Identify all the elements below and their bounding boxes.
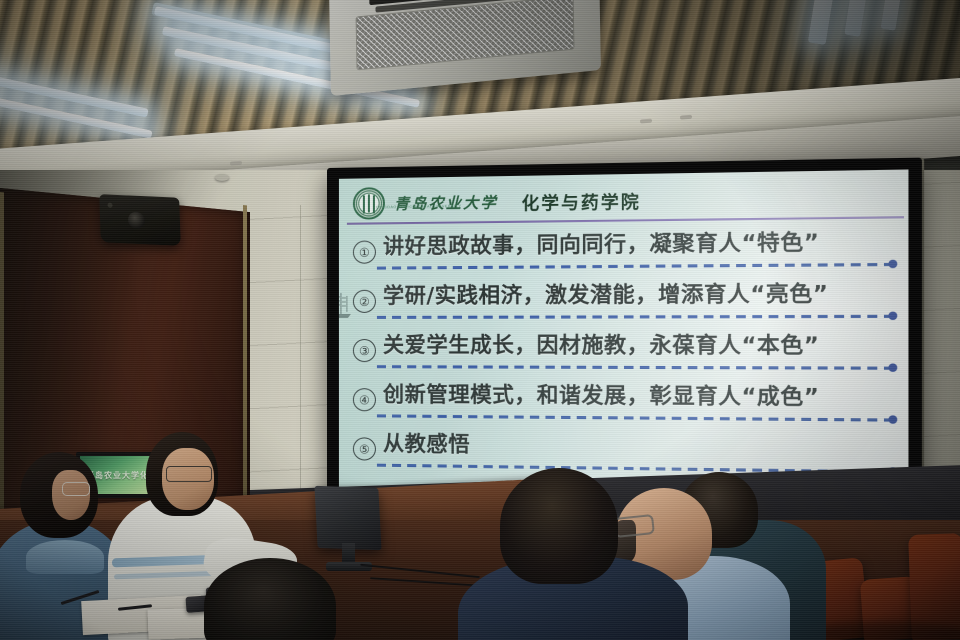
slide-bullet-list: ① 讲好思政故事，同向同行，凝聚育人“特色” ② 学研/实践相济，激发潜能，增添… — [353, 229, 897, 498]
person-presenter-woman-collar — [26, 540, 104, 574]
slide-header: 青岛农业大学 化学与药学院 — [353, 177, 902, 222]
desktop-monitor-icon[interactable] — [314, 486, 381, 550]
slide-item: ② 学研/实践相济，激发潜能，增添育人“亮色” — [353, 281, 897, 333]
slide-surface: 青岛农业大学 化学与药学院 QINGDAO AGRICULTURAL UNIVE… — [339, 169, 909, 504]
glasses-icon — [613, 514, 655, 538]
slide-item-number: ② — [353, 290, 376, 313]
slide-item-number: ③ — [353, 339, 376, 362]
slide-item-number: ① — [353, 241, 376, 264]
slide-item-end-dot — [888, 363, 897, 371]
glasses-icon — [166, 466, 212, 482]
slide-item-number: ⑤ — [353, 437, 376, 460]
slide-item-end-dot — [888, 415, 897, 424]
university-seal-icon — [353, 187, 385, 220]
person-attendee-navy-head — [500, 468, 618, 584]
glasses-icon — [62, 482, 90, 496]
beam-fixture — [230, 161, 242, 166]
slide-item-underline — [377, 414, 891, 421]
department-name-cn: 化学与药学院 — [522, 187, 641, 214]
slide-item-end-dot — [888, 312, 897, 320]
slide-item-underline — [377, 315, 891, 319]
slide-item-underline — [377, 263, 891, 270]
slide-item-text: 创新管理模式，和谐发展，彰显育人“成色” — [383, 384, 820, 408]
slide-item-text: 讲好思政故事，同向同行，凝聚育人“特色” — [383, 232, 820, 258]
slide-item: ④ 创新管理模式，和谐发展，彰显育人“成色” — [353, 382, 897, 436]
presentation-room-photo: 青岛农业大学 化学与药学院 QINGDAO AGRICULTURAL UNIVE… — [0, 0, 960, 640]
presentation-display[interactable]: 青岛农业大学 化学与药学院 QINGDAO AGRICULTURAL UNIVE… — [327, 158, 922, 517]
beam-fixture — [680, 115, 692, 120]
slide-item: ① 讲好思政故事，同向同行，凝聚育人“特色” — [353, 229, 897, 284]
slide-item-text: 关爱学生成长，因材施教，永葆育人“本色” — [383, 335, 820, 357]
slide-item-text: 学研/实践相济，激发潜能，增添育人“亮色” — [383, 283, 828, 306]
beam-fixture — [640, 119, 652, 124]
slide-item-end-dot — [888, 260, 897, 269]
university-name-cn: 青岛农业大学 — [394, 191, 498, 214]
slide-item-text: 从教感悟 — [383, 434, 470, 456]
slide-item-number: ④ — [353, 388, 376, 411]
slide-item-underline — [377, 365, 891, 370]
slide-item: ③ 关爱学生成长，因材施教，永葆育人“本色” — [353, 333, 897, 385]
sailing-ship-icon — [339, 290, 355, 320]
